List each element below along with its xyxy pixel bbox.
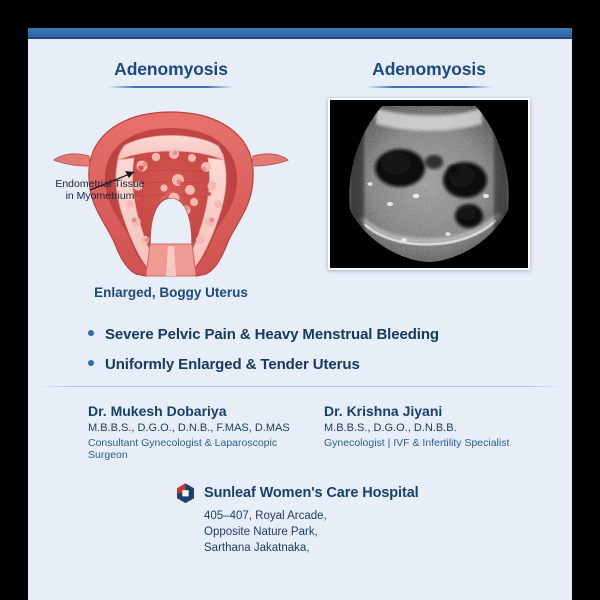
doctor-qualifications: M.B.B.S., D.G.O., D.N.B., F.MAS, D.MAS — [88, 422, 300, 434]
doctor-qualifications: M.B.B.S., D.G.O., D.N.B.B. — [324, 422, 558, 434]
uterus-illustration: Endometrial Tissue in Myometrium — [46, 94, 296, 279]
panel-title-right: Adenomyosis — [372, 61, 486, 79]
hospital-heading: Sunleaf Women's Care Hospital — [176, 483, 572, 504]
panel-title-left: Adenomyosis — [114, 61, 228, 79]
address-line-1: 405–407, Royal Arcade, — [204, 508, 572, 524]
doctor-card-primary: Dr. Mukesh Dobariya M.B.B.S., D.G.O., D.… — [42, 403, 300, 461]
address-line-3: Sarthana Jakatnaka, — [204, 540, 572, 556]
doctors-row: Dr. Mukesh Dobariya M.B.B.S., D.G.O., D.… — [28, 387, 572, 461]
doctor-card-secondary: Dr. Krishna Jiyani M.B.B.S., D.G.O., D.N… — [300, 403, 558, 461]
title-underline-left — [108, 86, 234, 88]
ultrasound-image — [328, 98, 530, 270]
hospital-footer: Sunleaf Women's Care Hospital 405–407, R… — [28, 483, 572, 557]
header-accent-bar — [28, 28, 572, 39]
panel-illustration: Adenomyosis — [42, 61, 300, 300]
symptoms-list: Severe Pelvic Pain & Heavy Menstrual Ble… — [88, 326, 572, 373]
symptom-text: Uniformly Enlarged & Tender Uterus — [105, 356, 360, 373]
symptom-text: Severe Pelvic Pain & Heavy Menstrual Ble… — [105, 326, 439, 343]
panel-ultrasound: Adenomyosis — [300, 61, 558, 300]
list-item: Uniformly Enlarged & Tender Uterus — [88, 356, 572, 373]
hospital-address: 405–407, Royal Arcade, Opposite Nature P… — [176, 508, 572, 557]
panels-row: Adenomyosis — [28, 39, 572, 300]
bullet-dot-icon — [88, 360, 94, 366]
hospital-logo-icon — [176, 483, 195, 504]
doctor-role: Consultant Gynecologist & Laparoscopic S… — [88, 437, 300, 461]
doctor-role: Gynecologist | IVF & Infertility Special… — [324, 437, 558, 449]
list-item: Severe Pelvic Pain & Heavy Menstrual Ble… — [88, 326, 572, 343]
ultrasound-scan-graphic — [330, 100, 528, 268]
illustration-caption: Enlarged, Boggy Uterus — [94, 285, 248, 300]
doctor-name: Dr. Mukesh Dobariya — [88, 403, 300, 419]
doctor-name: Dr. Krishna Jiyani — [324, 403, 558, 419]
address-line-2: Opposite Nature Park, — [204, 524, 572, 540]
hospital-name: Sunleaf Women's Care Hospital — [204, 485, 419, 501]
title-underline-right — [366, 86, 492, 88]
poster-card: Adenomyosis — [28, 28, 572, 600]
endometrial-tissue-callout: Endometrial Tissue in Myometrium — [54, 178, 146, 204]
bullet-dot-icon — [88, 330, 94, 336]
